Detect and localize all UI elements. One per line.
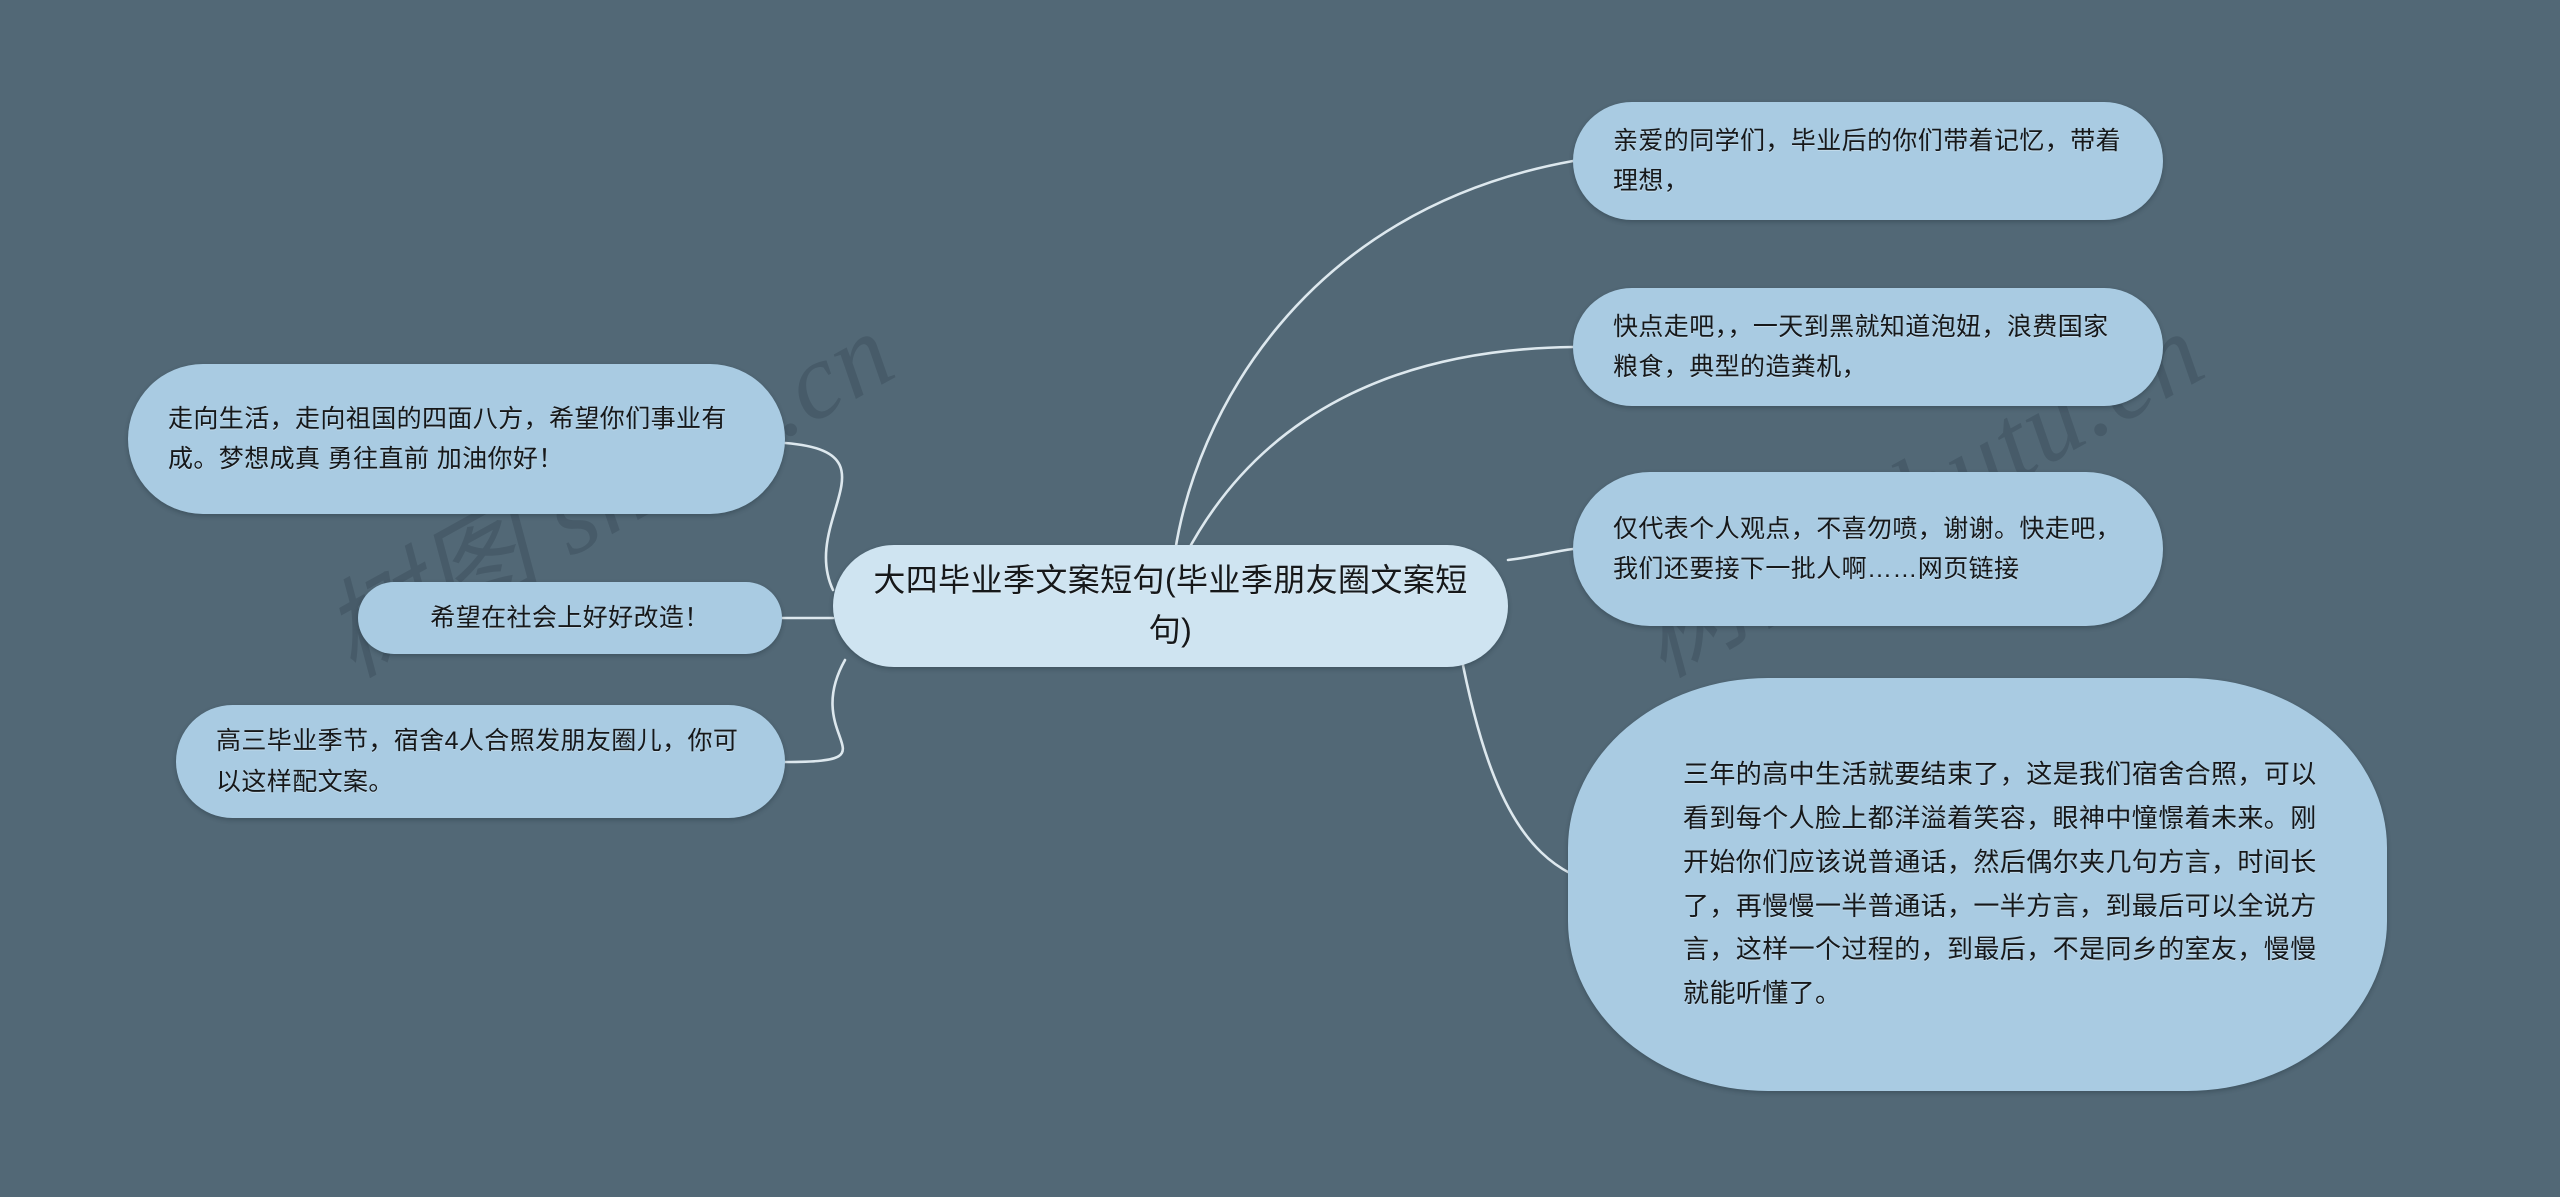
connector-root-to-right-3 bbox=[1508, 549, 1573, 560]
right-branch-node-3[interactable]: 仅代表个人观点，不喜勿喷，谢谢。快走吧，我们还要接下一批人啊……网页链接 bbox=[1573, 472, 2163, 626]
right-branch-label-4: 三年的高中生活就要结束了，这是我们宿舍合照，可以看到每个人脸上都洋溢着笑容，眼神… bbox=[1683, 753, 2335, 1015]
left-branch-node-2[interactable]: 希望在社会上好好改造！ bbox=[358, 582, 782, 654]
root-node[interactable]: 大四毕业季文案短句(毕业季朋友圈文案短句) bbox=[833, 545, 1508, 667]
right-branch-node-2[interactable]: 快点走吧，，一天到黑就知道泡妞，浪费国家粮食，典型的造粪机， bbox=[1573, 288, 2163, 406]
right-branch-node-1[interactable]: 亲爱的同学们，毕业后的你们带着记忆，带着理想， bbox=[1573, 102, 2163, 220]
connector-root-to-left-1 bbox=[785, 443, 842, 590]
right-branch-label-1: 亲爱的同学们，毕业后的你们带着记忆，带着理想， bbox=[1613, 121, 2129, 202]
connector-root-to-right-1 bbox=[1175, 161, 1573, 552]
left-branch-label-1: 走向生活，走向祖国的四面八方，希望你们事业有成。梦想成真 勇往直前 加油你好！ bbox=[168, 399, 751, 480]
right-branch-label-3: 仅代表个人观点，不喜勿喷，谢谢。快走吧，我们还要接下一批人啊……网页链接 bbox=[1613, 509, 2129, 590]
left-branch-label-3: 高三毕业季节，宿舍4人合照发朋友圈儿，你可以这样配文案。 bbox=[216, 721, 751, 802]
root-node-label: 大四毕业季文案短句(毕业季朋友圈文案短句) bbox=[867, 556, 1474, 655]
left-branch-node-1[interactable]: 走向生活，走向祖国的四面八方，希望你们事业有成。梦想成真 勇往直前 加油你好！ bbox=[128, 364, 785, 514]
mindmap-canvas: 树图 shutu.cn 树图 shutu.cn 大四毕业季文案短句(毕业季朋友圈… bbox=[0, 0, 2560, 1197]
connector-root-to-right-2 bbox=[1185, 347, 1573, 556]
right-branch-node-4[interactable]: 三年的高中生活就要结束了，这是我们宿舍合照，可以看到每个人脸上都洋溢着笑容，眼神… bbox=[1568, 678, 2387, 1091]
right-branch-label-2: 快点走吧，，一天到黑就知道泡妞，浪费国家粮食，典型的造粪机， bbox=[1613, 307, 2129, 388]
connector-root-to-left-3 bbox=[785, 660, 845, 762]
left-branch-label-2: 希望在社会上好好改造！ bbox=[388, 598, 752, 639]
left-branch-node-3[interactable]: 高三毕业季节，宿舍4人合照发朋友圈儿，你可以这样配文案。 bbox=[176, 705, 785, 818]
